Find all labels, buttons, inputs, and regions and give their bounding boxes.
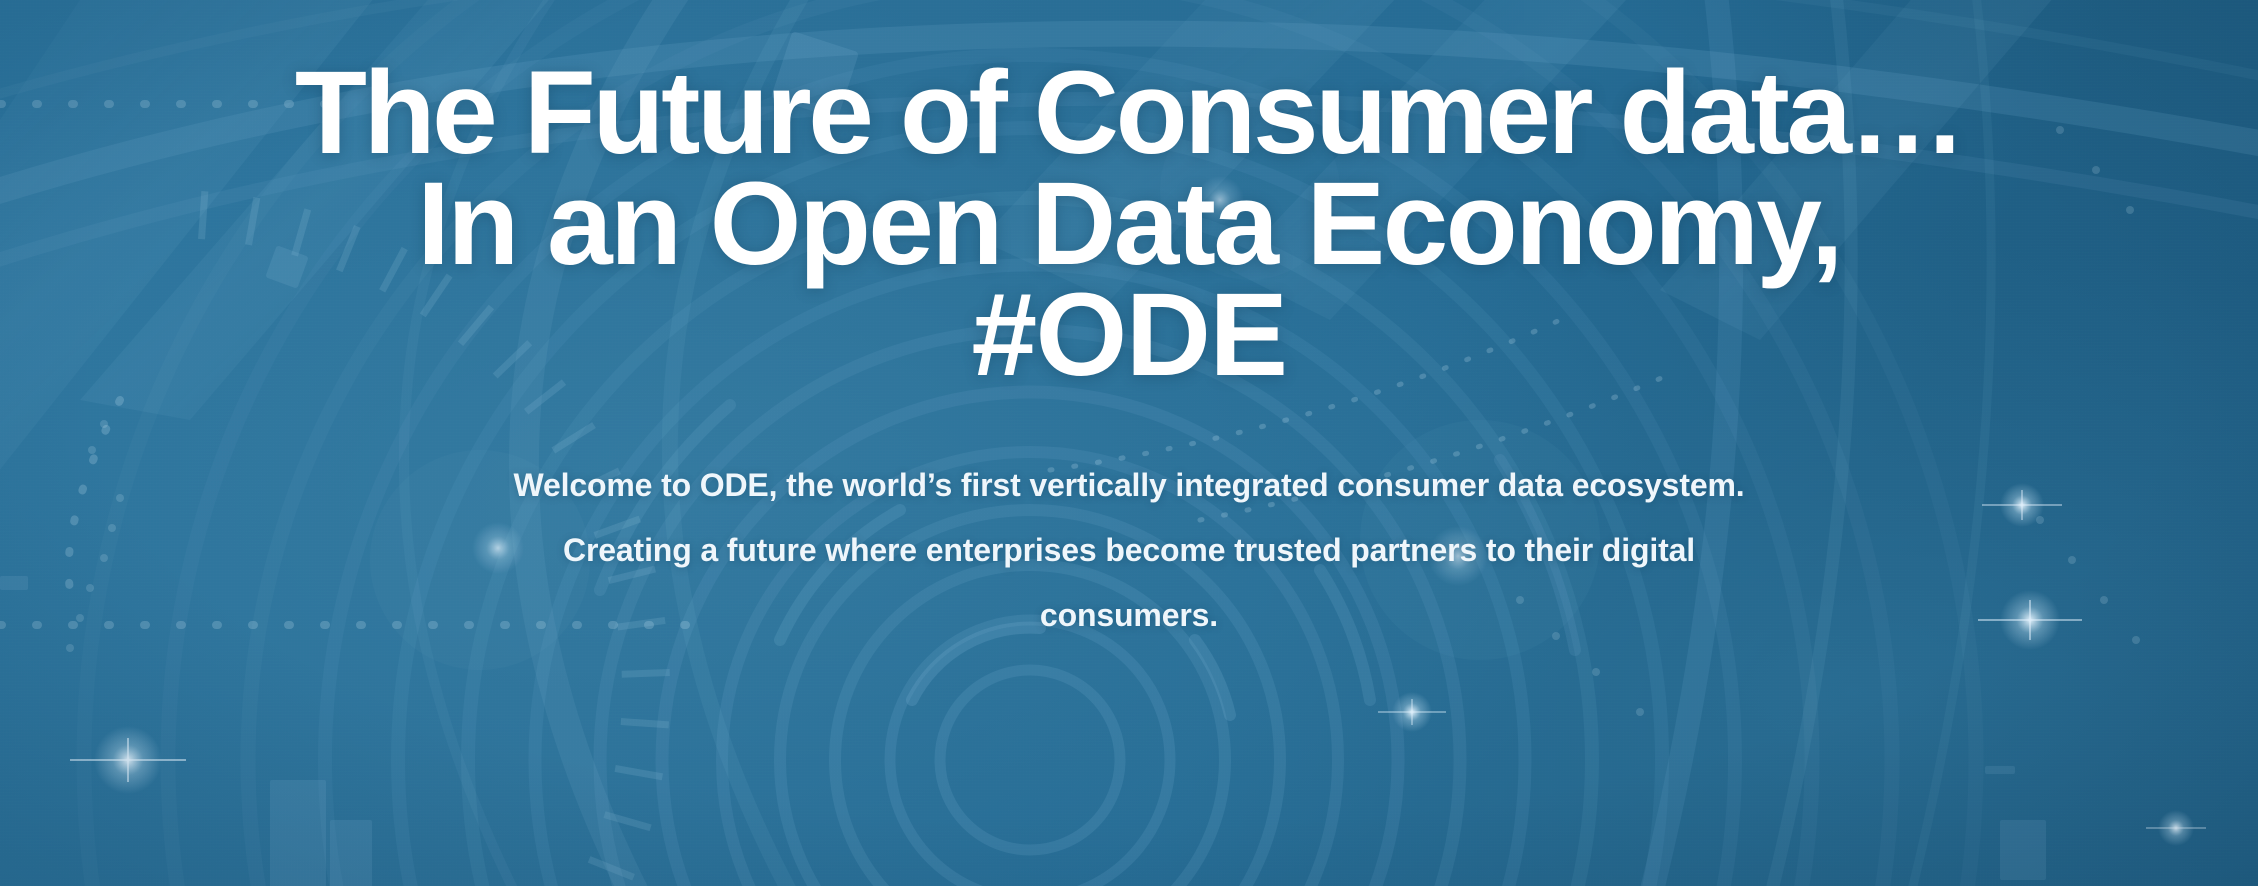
- page-title: The Future of Consumer data… In an Open …: [24, 58, 2234, 391]
- page-title-line-3: #ODE: [24, 280, 2234, 391]
- hero-content: The Future of Consumer data… In an Open …: [0, 0, 2258, 886]
- page-title-line-1: The Future of Consumer data…: [24, 58, 2234, 169]
- hero-subheading: Welcome to ODE, the world’s first vertic…: [504, 453, 1754, 648]
- page-title-line-2: In an Open Data Economy,: [24, 169, 2234, 280]
- hero-banner: The Future of Consumer data… In an Open …: [0, 0, 2258, 886]
